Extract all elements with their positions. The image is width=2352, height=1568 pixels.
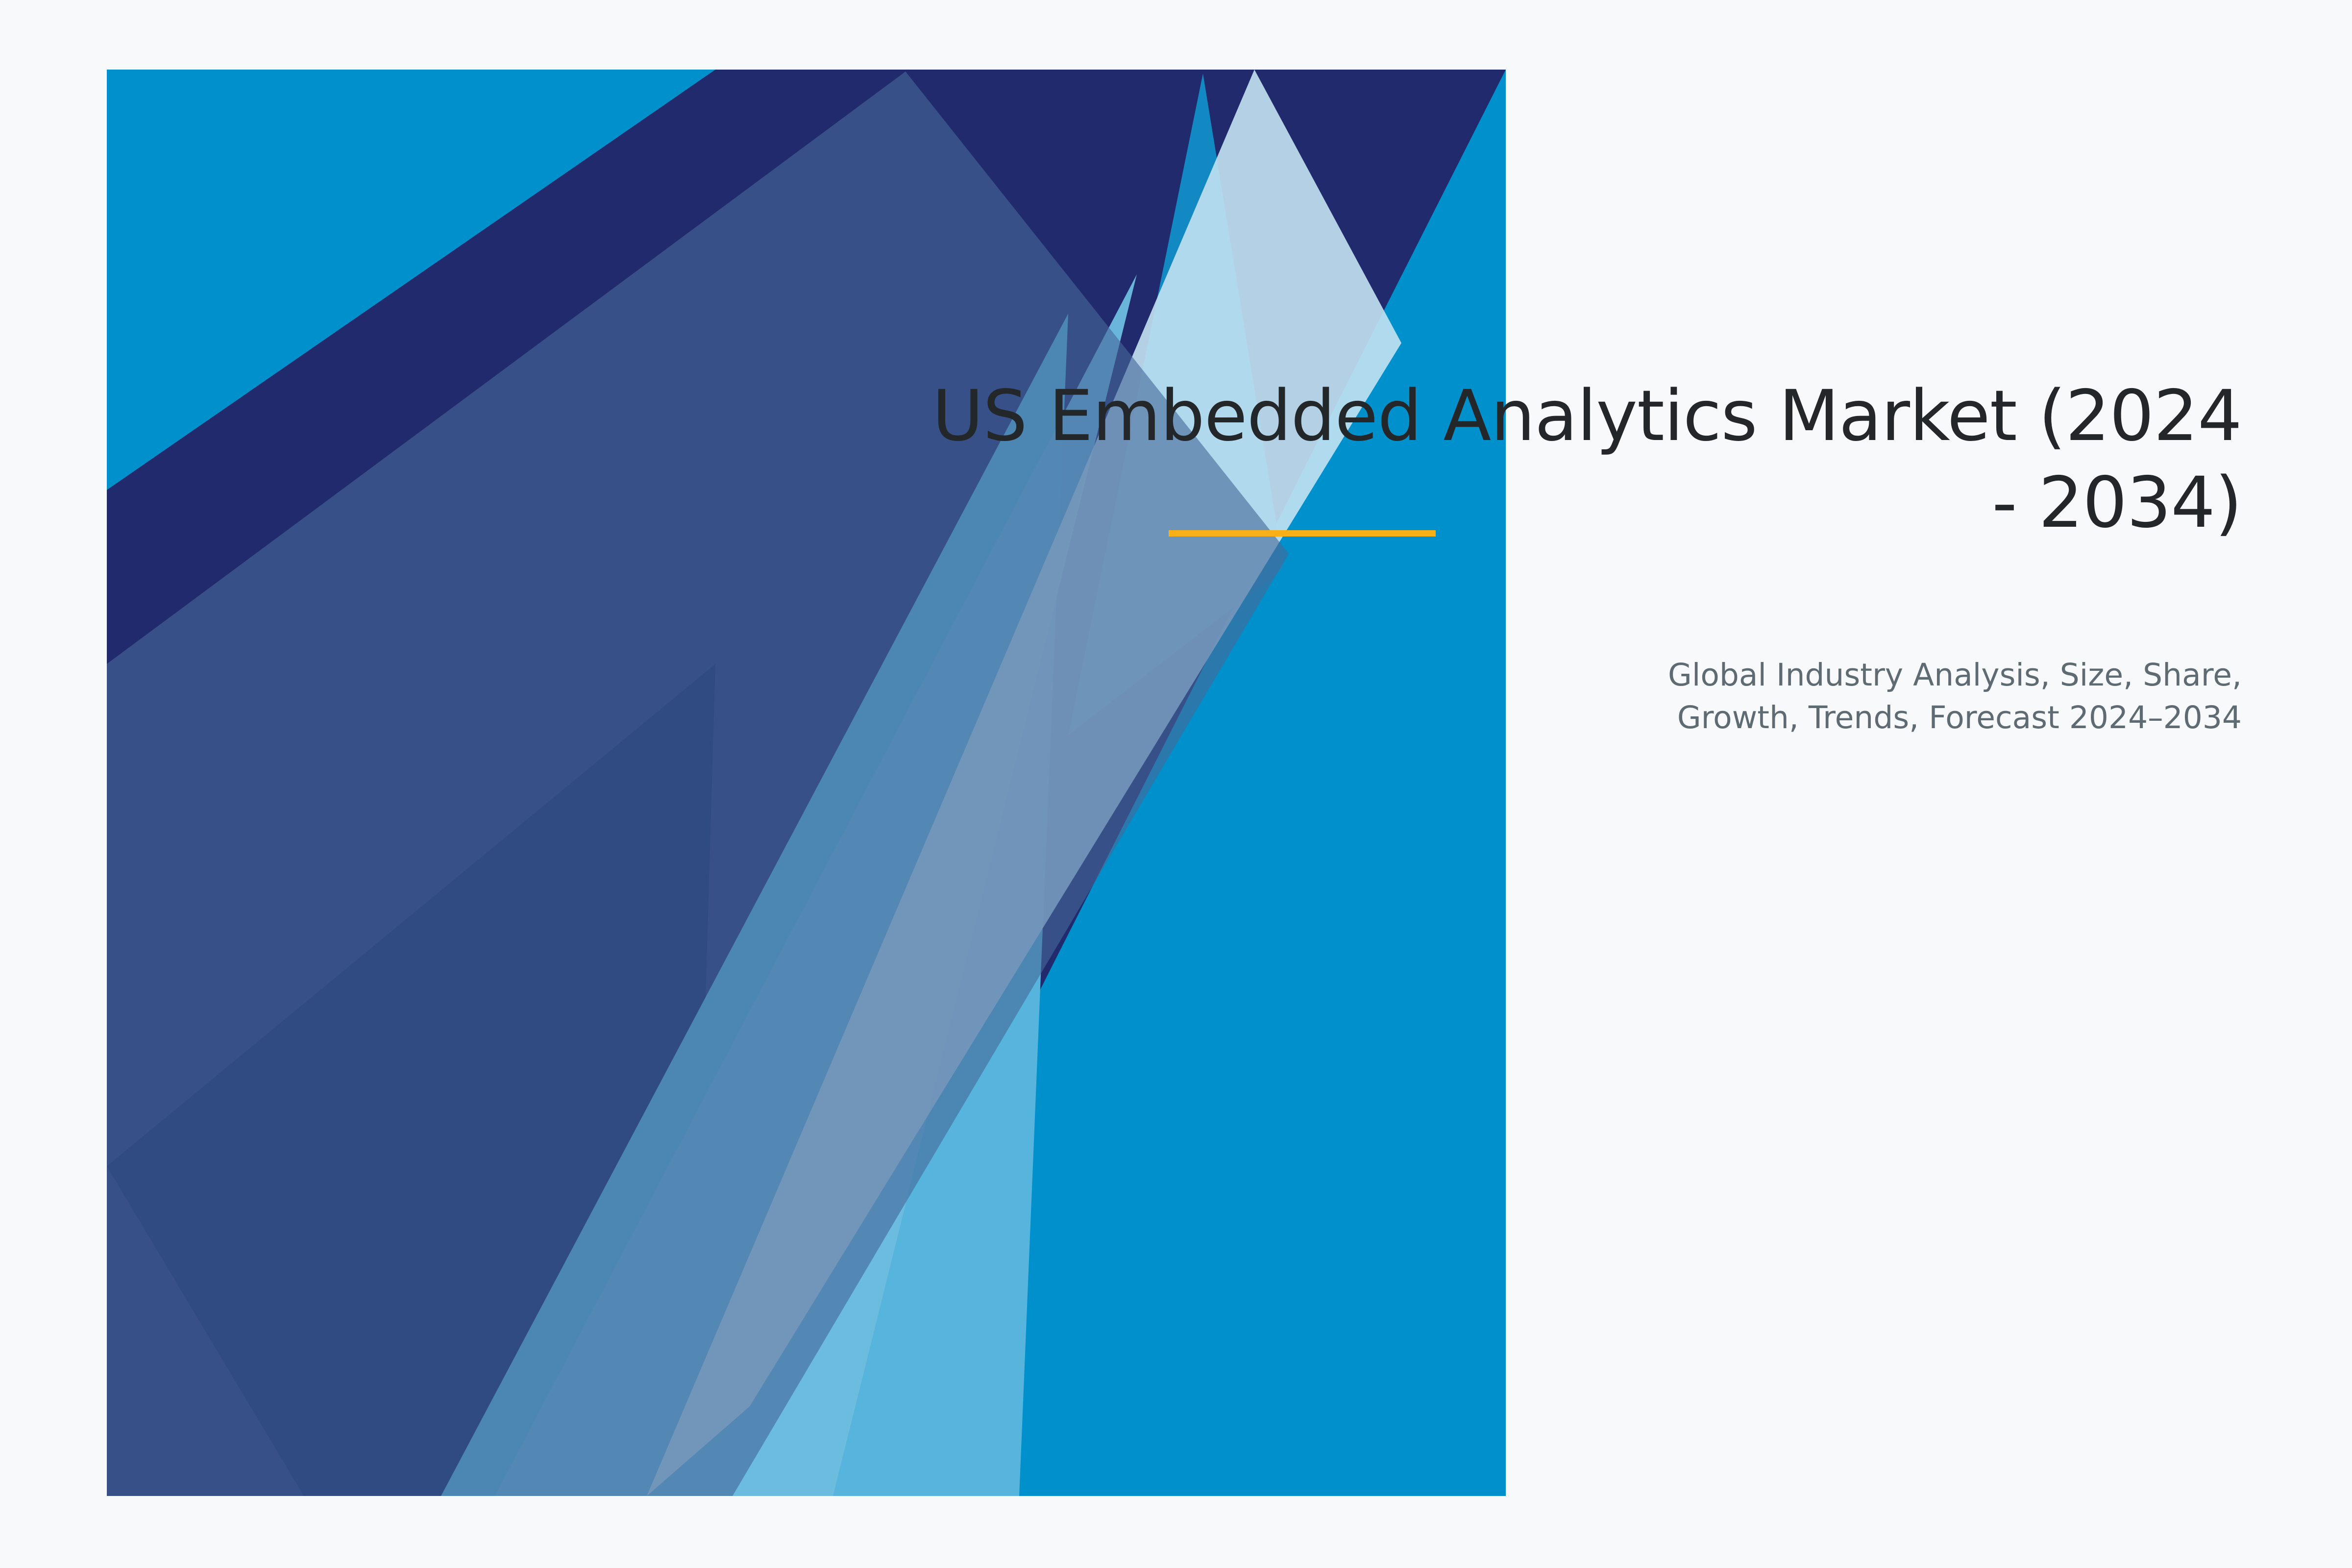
page-subtitle: Global Industry Analysis, Size, Share, G… [833,654,2242,739]
title-accent-underline [1169,530,1436,537]
abstract-geometric-cover-graphic [0,0,2352,1568]
cover-heading-block: US Embedded Analytics Market (2024 - 203… [833,372,2242,546]
page-title: US Embedded Analytics Market (2024 - 203… [833,372,2242,546]
cover-page: US Embedded Analytics Market (2024 - 203… [0,0,2352,1568]
